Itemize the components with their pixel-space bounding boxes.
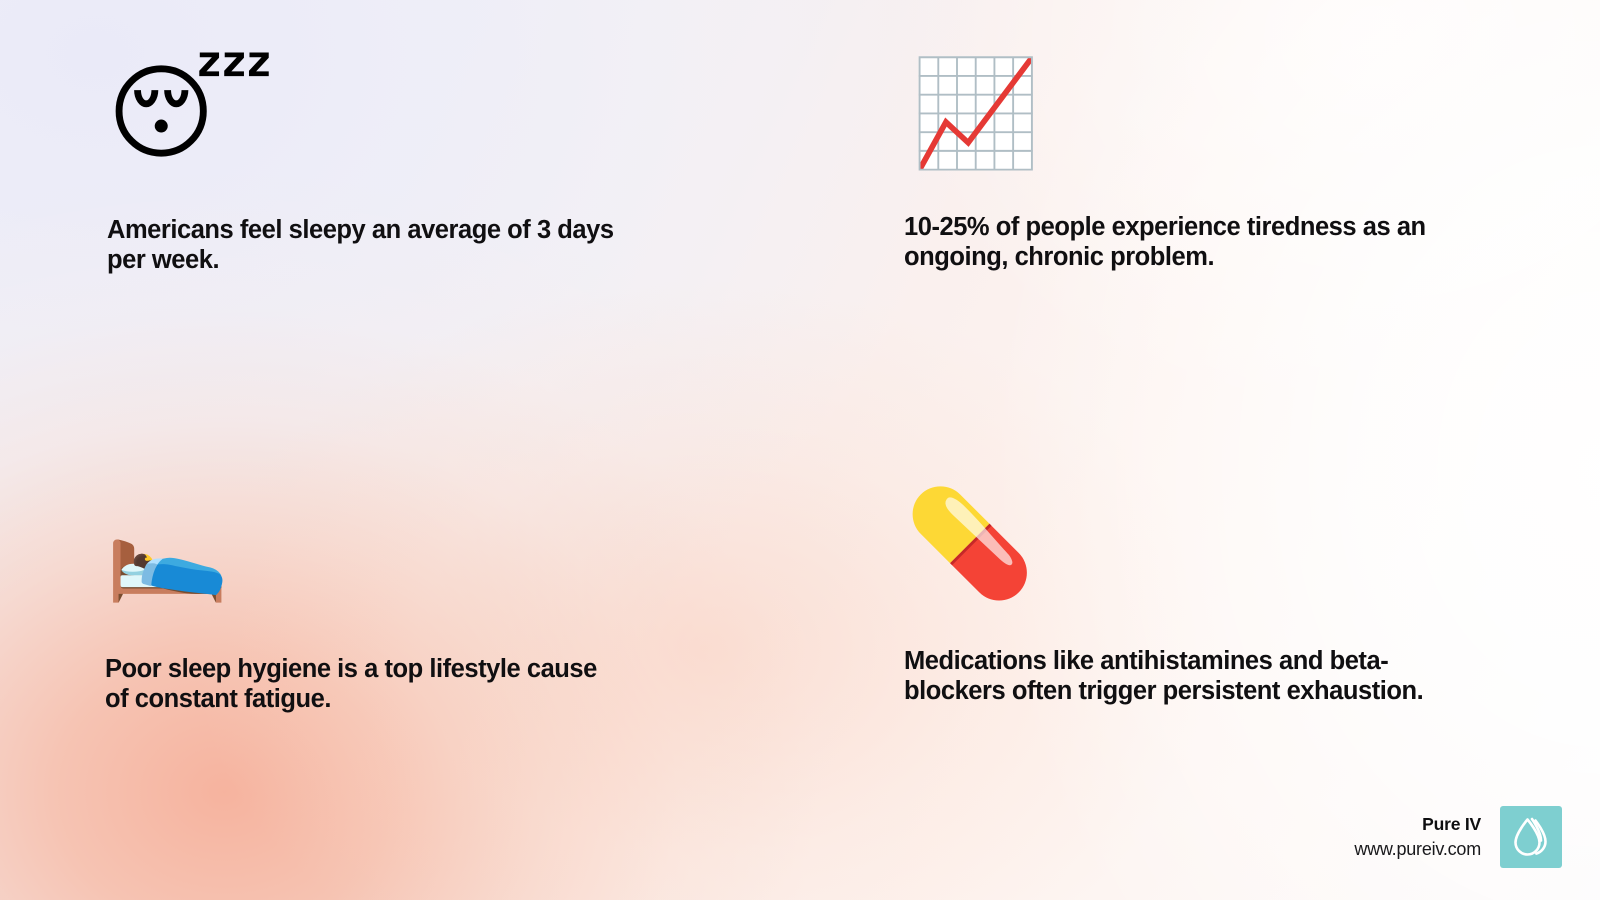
fact-text-bed: Poor sleep hygiene is a top lifestyle ca… xyxy=(105,654,625,714)
fact-card-bed: 🛌 Poor sleep hygiene is a top lifestyle … xyxy=(103,498,723,714)
fact-text-chart: 10-25% of people experience tiredness as… xyxy=(904,212,1464,272)
fact-card-sleepy: 😴 Americans feel sleepy an average of 3 … xyxy=(105,62,725,275)
brand-name: Pure IV xyxy=(1422,814,1481,835)
water-drop-logo-icon xyxy=(1500,806,1562,868)
fact-card-chart: 📈 10-25% of people experience tiredness … xyxy=(903,62,1523,272)
brand-footer: Pure IV www.pureiv.com xyxy=(1354,806,1562,868)
infographic-canvas: 😴 Americans feel sleepy an average of 3 … xyxy=(0,0,1600,900)
brand-text-block: Pure IV www.pureiv.com xyxy=(1354,814,1481,861)
sleeping-face-emoji: 😴 xyxy=(107,62,725,166)
fact-card-pill: 💊 Medications like antihistamines and be… xyxy=(897,492,1517,706)
brand-website-url: www.pureiv.com xyxy=(1354,839,1481,860)
person-in-bed-emoji: 🛌 xyxy=(105,498,723,598)
chart-increasing-emoji: 📈 xyxy=(911,62,1523,166)
fact-text-sleepy: Americans feel sleepy an average of 3 da… xyxy=(107,215,652,275)
fact-text-pill: Medications like antihistamines and beta… xyxy=(904,646,1449,706)
water-drop-glyph xyxy=(1509,814,1553,860)
pill-emoji: 💊 xyxy=(905,492,1517,596)
